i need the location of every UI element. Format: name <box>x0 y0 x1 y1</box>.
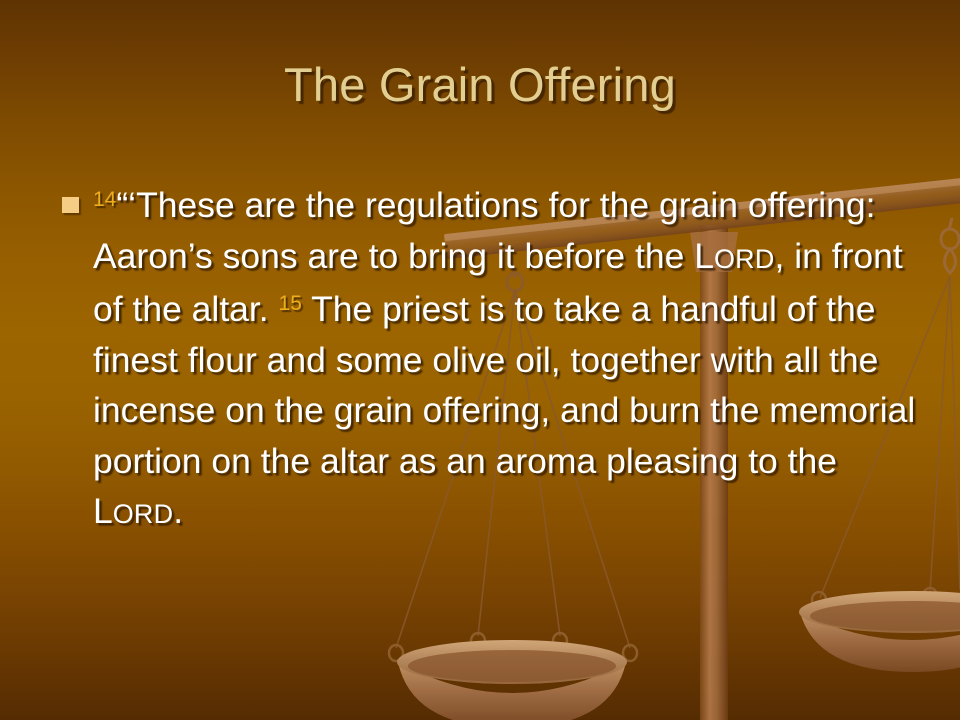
square-bullet-icon <box>62 197 79 213</box>
divine-name-cap-1: L <box>694 236 714 276</box>
right-hook <box>941 218 959 273</box>
verse-number-15: 15 <box>279 292 302 315</box>
slide-body: 14“‘These are the regulations for the gr… <box>58 180 918 540</box>
scripture-paragraph: 14“‘These are the regulations for the gr… <box>93 180 918 540</box>
verse-15-tail: . <box>173 491 183 531</box>
right-string-loops <box>812 588 937 608</box>
slide-title-container: The Grain Offering <box>0 56 960 114</box>
left-string-loops <box>389 633 637 661</box>
bullet-list-item: 14“‘These are the regulations for the gr… <box>58 180 918 540</box>
divine-name-rest-2: ORD <box>113 499 174 529</box>
verse-number-14: 14 <box>93 188 116 211</box>
right-pan <box>799 591 960 672</box>
slide-title: The Grain Offering <box>284 56 676 114</box>
left-pan <box>397 640 627 720</box>
presentation-slide: The Grain Offering 14“‘These are the reg… <box>0 0 960 720</box>
divine-name-cap-2: L <box>93 491 113 531</box>
divine-name-rest-1: ORD <box>714 244 775 274</box>
